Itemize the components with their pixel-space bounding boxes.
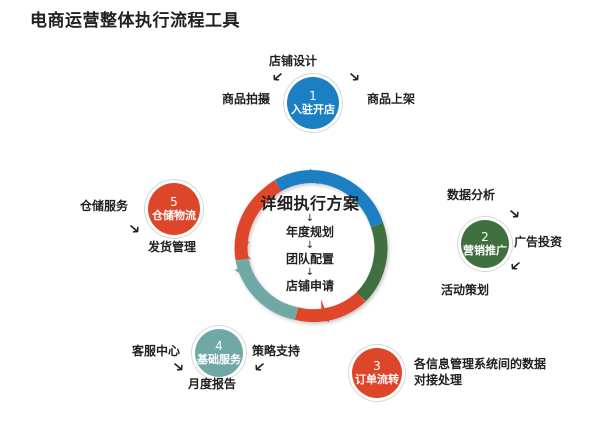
center-arrow-3: ↓	[232, 267, 388, 279]
arrow-node-5-left-icon	[129, 224, 141, 236]
ring-segment-red-stub	[267, 186, 278, 195]
node-4-circle[interactable]: 4 基础服务	[195, 329, 243, 377]
node-5-circle[interactable]: 5 仓储物流	[148, 183, 200, 235]
node-5-label: 仓储物流	[152, 210, 196, 222]
label-node-4-right: 策略支持	[252, 344, 300, 359]
arrow-node-1-right-icon	[349, 72, 361, 84]
label-node-1-top: 店铺设计	[269, 54, 317, 69]
center-step-3: 店铺申请	[232, 279, 388, 294]
page-title: 电商运营整体执行流程工具	[30, 6, 240, 31]
node-1-number: 1	[309, 90, 317, 103]
label-node-4-bottom: 月度报告	[188, 377, 236, 392]
center-step-1: 年度规划	[232, 225, 388, 240]
ring-segment-blue-stub	[278, 177, 311, 186]
arrow-node-2-bottom-icon	[509, 261, 521, 273]
center-heading: 详细执行方案	[232, 195, 388, 213]
arrow-node-1-left-icon	[271, 72, 283, 84]
center-arrow-1: ↓	[232, 213, 388, 225]
node-3-label: 订单流转	[355, 374, 399, 386]
center-step-2: 团队配置	[232, 252, 388, 267]
center-arrow-2: ↓	[232, 240, 388, 252]
ring-segment-red-bottom	[297, 297, 362, 316]
label-node-4-left: 客服中心	[132, 344, 180, 359]
node-1-circle[interactable]: 1 入驻开店	[287, 77, 339, 129]
center-content: 详细执行方案 ↓ 年度规划 ↓ 团队配置 ↓ 店铺申请	[232, 195, 388, 294]
node-5-number: 5	[170, 196, 178, 209]
node-2-number: 2	[481, 231, 489, 244]
label-node-1-right: 商品上架	[367, 92, 415, 107]
label-node-2-bottom: 活动策划	[441, 283, 489, 298]
arrow-node-4-left-icon	[173, 362, 185, 374]
label-node-1-left: 商品拍摄	[222, 92, 270, 107]
label-node-5-left: 仓储服务	[80, 199, 128, 214]
label-node-5-bottom: 发货管理	[148, 240, 196, 255]
arrow-node-2-top-icon	[509, 209, 521, 221]
node-3-number: 3	[373, 360, 381, 373]
node-4-number: 4	[215, 340, 223, 353]
label-node-2-right: 广告投资	[514, 235, 562, 250]
node-1-label: 入驻开店	[291, 104, 335, 116]
label-node-2-top: 数据分析	[447, 188, 495, 203]
label-node-3-right: 各信息管理系统间的数据对接处理	[414, 356, 546, 388]
diagram-canvas: 电商运营整体执行流程工具	[0, 0, 600, 425]
node-2-circle[interactable]: 2 营销推广	[461, 220, 509, 268]
node-3-circle[interactable]: 3 订单流转	[352, 348, 402, 398]
arrow-node-4-right-icon	[253, 362, 265, 374]
node-2-label: 营销推广	[463, 245, 507, 257]
node-4-label: 基础服务	[197, 354, 241, 366]
